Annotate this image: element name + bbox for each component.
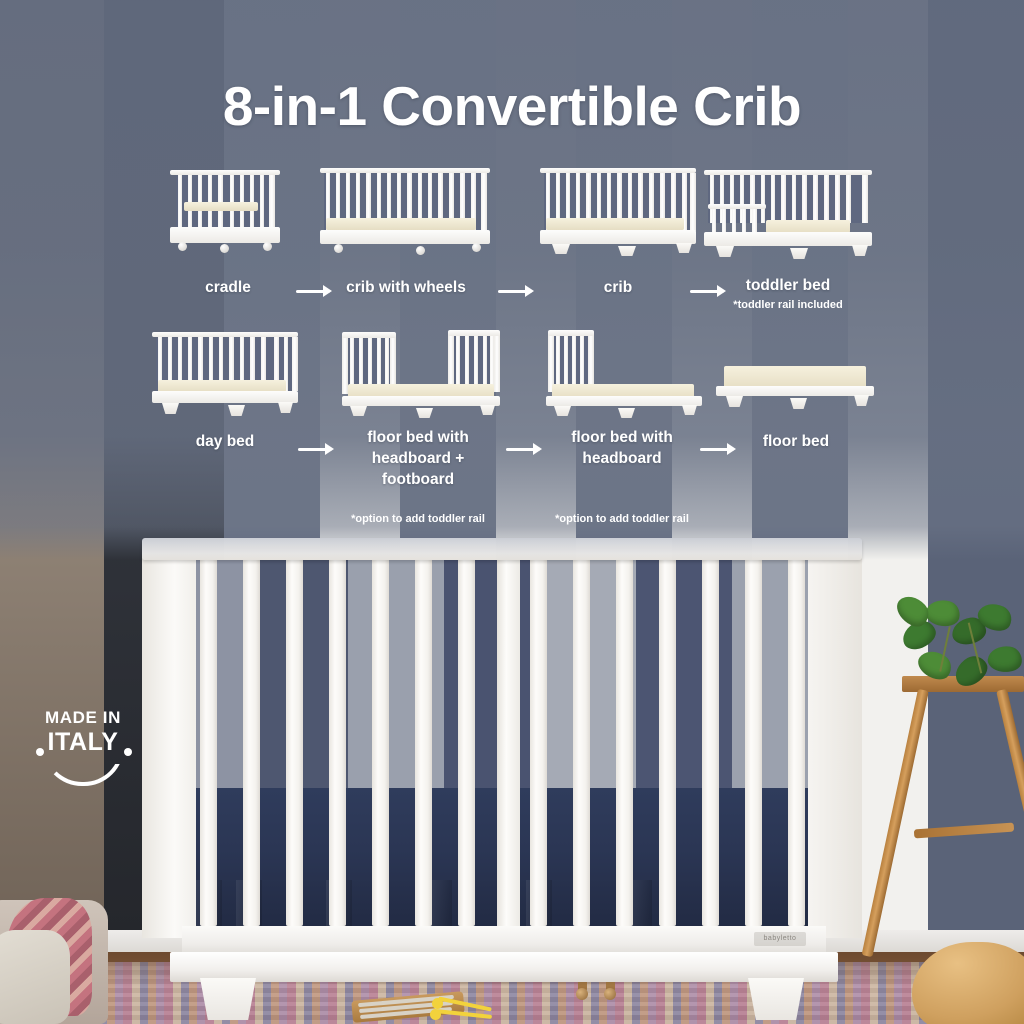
cradle-thumbnail <box>170 170 280 252</box>
crib-slat <box>415 558 432 926</box>
conversion-item-toddler-bed: toddler bed *toddler rail included <box>700 162 876 272</box>
smile-arc-icon <box>42 746 124 786</box>
conversion-item-day-bed: day bed <box>150 324 300 424</box>
crib-foot <box>748 978 804 1020</box>
thumb-foot <box>726 396 743 407</box>
thumb-slat <box>835 175 840 223</box>
crib-slat <box>530 558 547 926</box>
thumb-slat <box>824 175 829 223</box>
screenshot-canvas: babyletto 8-in-1 Convertible Crib <box>0 0 1024 1024</box>
crib-slat <box>745 558 762 926</box>
thumb-bottom-rail <box>152 391 298 403</box>
crib-thumbnail <box>540 168 696 254</box>
conversion-item-crib: crib <box>538 162 698 272</box>
thumb-foot <box>716 246 734 257</box>
thumb-slat <box>792 175 796 223</box>
thumb-slat <box>198 175 202 227</box>
thumb-foot <box>162 403 179 414</box>
crib-right-panel <box>808 552 862 938</box>
conversion-row-1: cradle <box>0 162 1024 312</box>
headboard-slat <box>556 336 560 390</box>
thumb-wheel <box>416 246 425 255</box>
conversion-label-line1: floor bed with <box>330 428 506 447</box>
thumb-wheel <box>263 242 272 251</box>
conversion-label-line2: headboard + <box>330 449 506 468</box>
toddler-rail-slat <box>752 208 757 234</box>
convertible-crib-product: babyletto <box>142 538 862 970</box>
conversion-label-crib: crib <box>538 278 698 297</box>
page-title: 8-in-1 Convertible Crib <box>0 74 1024 138</box>
footboard-slat <box>465 336 469 388</box>
thumb-wheel <box>220 244 229 253</box>
toddler-bed-thumbnail <box>704 170 872 256</box>
crib-center-post <box>497 554 520 928</box>
conversion-label-line2: headboard <box>534 449 710 468</box>
conversion-item-floor-bed-headboard: floor bed with headboard *option to add … <box>534 324 710 424</box>
conversion-note-option-toddler-rail: *option to add toddler rail <box>312 512 524 526</box>
toy-horse-wheel <box>604 988 616 1000</box>
thumb-slat <box>188 175 192 227</box>
thumb-foot <box>852 245 868 256</box>
cream-blanket <box>0 930 70 1024</box>
thumb-bottom-rail <box>540 230 696 244</box>
conversion-row-2: day bed <box>0 324 1024 539</box>
headboard-slat <box>385 338 389 390</box>
toy-horse-wheel <box>576 988 588 1000</box>
conversion-note-toddler-rail-included: *toddler rail included <box>700 298 876 312</box>
thumb-slat <box>862 175 868 223</box>
thumb-foot <box>480 405 495 415</box>
footboard-post <box>494 334 500 392</box>
crib-slat <box>659 558 676 926</box>
crib-slat <box>458 558 475 926</box>
plant-stand-crossbar <box>914 823 1014 839</box>
crib-slat <box>573 558 590 926</box>
crib-base <box>170 952 838 982</box>
footboard-slat <box>474 336 478 388</box>
plant-leaf <box>950 651 992 691</box>
day-bed-thumbnail <box>152 332 298 416</box>
thumb-slat <box>292 337 298 391</box>
arrow-right-icon <box>498 284 538 298</box>
floor-bed-thumbnail <box>716 366 874 414</box>
xylophone-mallet-head <box>432 998 443 1009</box>
thumb-slat <box>771 175 775 223</box>
plant-leaf <box>914 645 957 686</box>
toddler-rail-top <box>708 204 766 209</box>
thumb-slat <box>781 175 786 223</box>
headboard-slat <box>572 336 576 390</box>
conversion-label-cradle: cradle <box>166 278 290 297</box>
thumb-foot <box>554 406 571 416</box>
thumb-slat <box>690 173 696 231</box>
thumb-bottom-rail <box>704 232 872 246</box>
crib-slat <box>243 558 260 926</box>
footboard-slat <box>490 336 494 388</box>
headboard-slat <box>564 336 568 390</box>
thumb-slat <box>481 173 487 231</box>
thumb-foot <box>350 406 367 416</box>
thumb-wheel <box>178 242 187 251</box>
brand-plate: babyletto <box>754 932 806 946</box>
footboard-slat <box>456 336 460 388</box>
headboard-slat <box>359 338 363 390</box>
thumb-slat <box>178 175 182 227</box>
crib-foot <box>200 978 256 1020</box>
thumb-foot <box>790 398 807 409</box>
footboard-slat <box>483 336 487 388</box>
badge-line-made-in: MADE IN <box>18 708 148 728</box>
toddler-rail-slat <box>732 208 736 234</box>
thumb-slat <box>761 175 765 223</box>
thumb-foot <box>228 405 245 416</box>
thumb-foot <box>552 244 570 254</box>
thumb-foot <box>278 402 293 413</box>
toddler-rail-slat <box>742 208 746 234</box>
headboard-slat <box>580 336 584 390</box>
made-in-italy-badge: MADE IN ITALY <box>18 700 148 790</box>
thumb-slat <box>260 175 264 227</box>
thumb-foot <box>682 405 697 415</box>
crib-slat <box>200 558 217 926</box>
conversion-item-floor-bed-headboard-footboard: floor bed with headboard + footboard *op… <box>330 324 506 424</box>
conversion-note-option-toddler-rail: *option to add toddler rail <box>516 512 728 526</box>
platform-rail <box>342 396 500 406</box>
wooden-xylophone <box>352 982 484 1022</box>
conversion-item-cradle: cradle <box>166 162 290 272</box>
thumb-slat <box>208 175 212 227</box>
thumb-slat <box>250 175 254 227</box>
headboard-slat <box>377 338 381 390</box>
toddler-rail-slat <box>722 208 726 234</box>
thumb-foot <box>618 246 636 256</box>
wooden-plant-stand <box>900 676 1024 966</box>
conversion-label-toddler-bed: toddler bed <box>700 276 876 295</box>
thumb-wheel <box>472 243 481 252</box>
conversion-label-floor-bed: floor bed <box>716 432 876 451</box>
thumb-slat <box>230 175 234 227</box>
platform-rail <box>546 396 702 406</box>
badge-dot-left-icon <box>36 748 44 756</box>
thumb-slat <box>846 175 851 223</box>
thumb-slat <box>813 175 818 223</box>
headboard-slat <box>368 338 372 390</box>
thumb-foot <box>416 408 433 418</box>
crib-slat <box>286 558 303 926</box>
headboard-slat <box>350 338 354 390</box>
crib-slat <box>329 558 346 926</box>
badge-dot-right-icon <box>124 748 132 756</box>
platform-rail <box>716 386 874 396</box>
pothos-plant <box>896 596 1024 692</box>
crib-slat <box>616 558 633 926</box>
crib-slat <box>372 558 389 926</box>
thumb-slat <box>240 175 244 227</box>
plant-leaf <box>986 644 1023 674</box>
floor-bed-headboard-footboard-thumbnail <box>332 328 504 416</box>
conversion-label-line1: floor bed with <box>534 428 710 447</box>
thumb-slat <box>218 175 223 227</box>
thumb-mattress <box>724 366 866 388</box>
thumb-foot <box>676 243 692 253</box>
crib-slat <box>702 558 719 926</box>
crib-left-panel <box>142 552 196 938</box>
crib-with-wheels-thumbnail <box>320 168 490 254</box>
floor-bed-headboard-thumbnail <box>538 328 706 416</box>
conversion-item-floor-bed: floor bed <box>716 324 876 424</box>
crib-slat <box>788 558 805 926</box>
toddler-rail-slat <box>712 208 716 234</box>
conversion-item-crib-with-wheels: crib with wheels <box>318 162 494 272</box>
thumb-mattress <box>546 218 684 230</box>
thumb-wheel <box>334 244 343 253</box>
conversion-label-line3: footboard <box>330 470 506 489</box>
thumb-foot <box>790 248 808 259</box>
thumb-slat <box>269 175 275 227</box>
thumb-slat <box>802 175 807 223</box>
conversion-label-day-bed: day bed <box>150 432 300 451</box>
thumb-mattress <box>326 218 476 230</box>
thumb-bottom-rail <box>170 227 280 243</box>
conversion-label-crib-with-wheels: crib with wheels <box>318 278 494 297</box>
xylophone-mallet-head <box>430 1009 441 1020</box>
thumb-foot <box>854 395 869 406</box>
thumb-mattress <box>184 202 258 211</box>
thumb-foot <box>618 408 635 418</box>
thumb-bottom-rail <box>320 230 490 244</box>
